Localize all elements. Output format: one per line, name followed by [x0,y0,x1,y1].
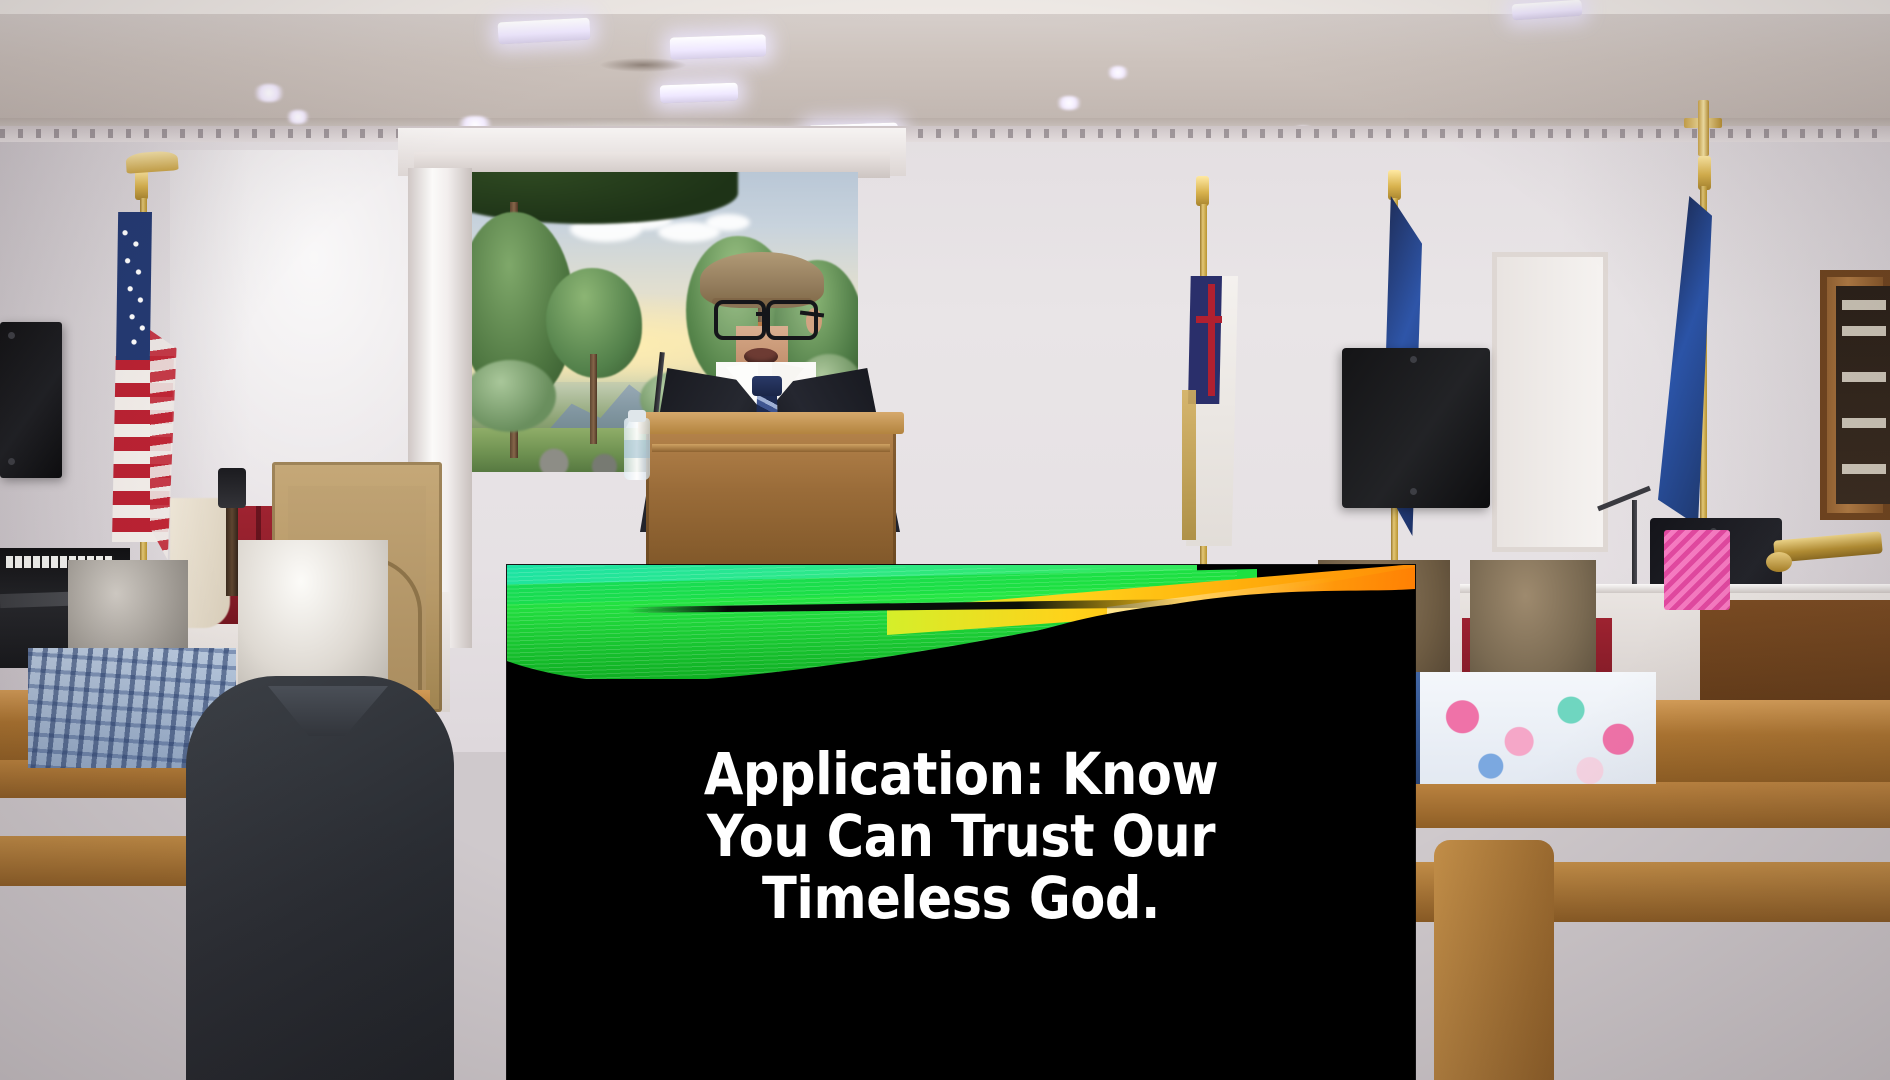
slide-title: Application: Know You Can Trust Our Time… [602,743,1320,929]
video-frame: Application: Know You Can Trust Our Time… [0,0,1890,1080]
slide-title-line-1: Application: Know [602,743,1320,805]
sermon-slide-overlay: Application: Know You Can Trust Our Time… [507,565,1415,1080]
slide-title-line-3: Timeless God. [602,867,1320,929]
slide-title-line-2: You Can Trust Our [602,805,1320,867]
